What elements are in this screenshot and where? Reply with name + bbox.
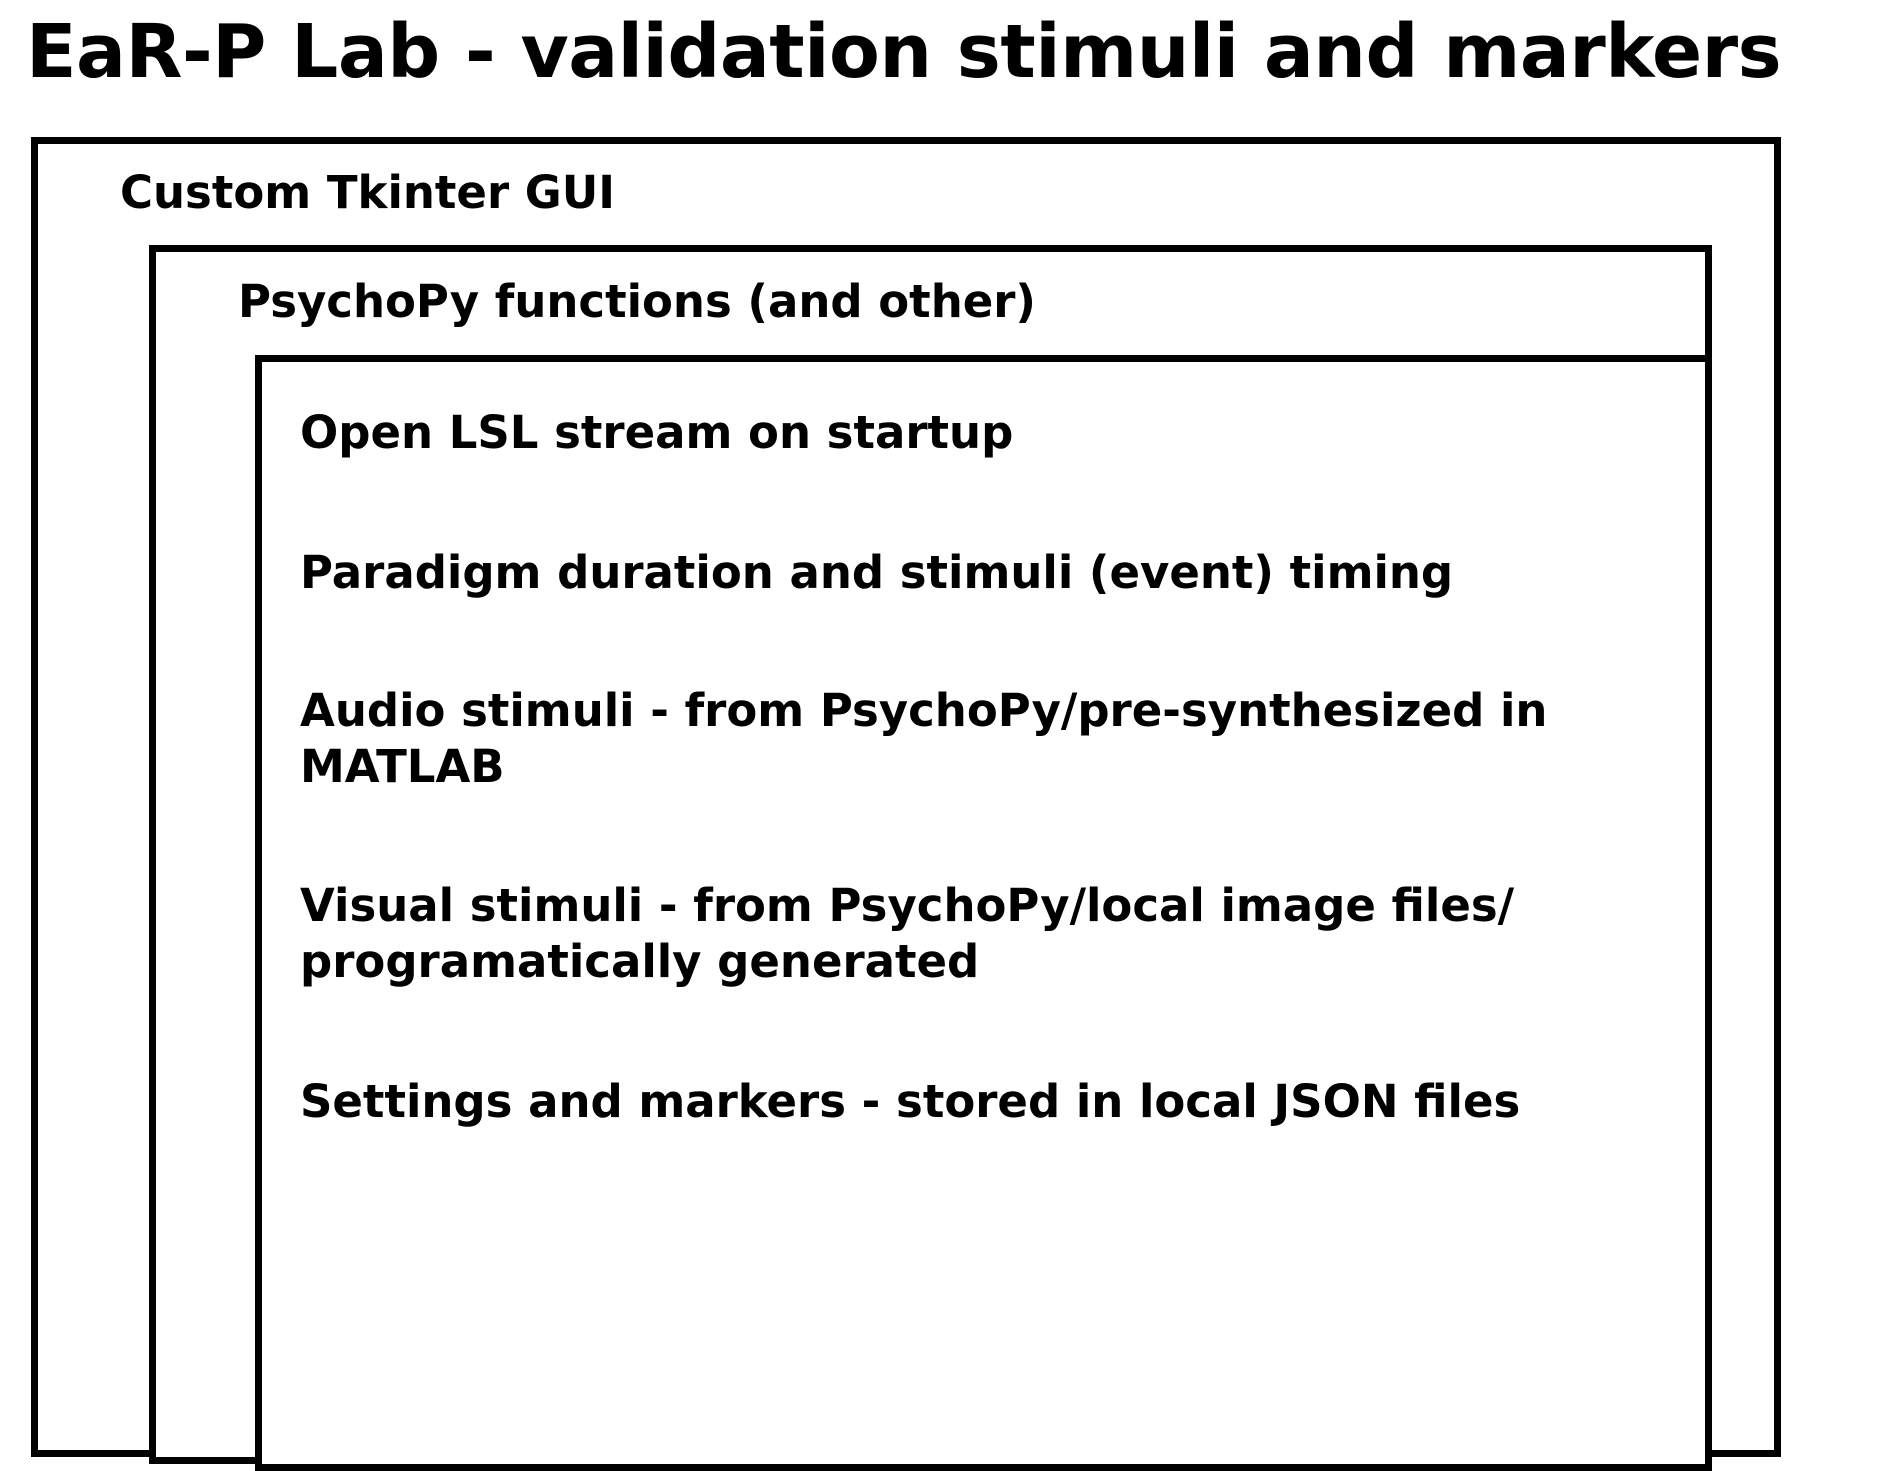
feature-list: Open LSL stream on startup Paradigm dura… bbox=[300, 380, 1680, 1130]
layer-box-inner-features: Open LSL stream on startup Paradigm dura… bbox=[255, 355, 1712, 1471]
layer-box-custom-tkinter-gui: Custom Tkinter GUI PsychoPy functions (a… bbox=[31, 137, 1781, 1457]
list-item: Visual stimuli - from PsychoPy/local ima… bbox=[300, 878, 1680, 990]
layer-box-psychopy-functions: PsychoPy functions (and other) Open LSL … bbox=[149, 245, 1712, 1464]
diagram-root: EaR-P Lab - validation stimuli and marke… bbox=[0, 0, 1879, 1402]
list-item: Open LSL stream on startup bbox=[300, 405, 1680, 461]
list-item: Audio stimuli - from PsychoPy/pre-synthe… bbox=[300, 683, 1680, 795]
layer-label-psychopy-functions: PsychoPy functions (and other) bbox=[238, 274, 1036, 329]
page-title: EaR-P Lab - validation stimuli and marke… bbox=[26, 8, 1866, 96]
list-item: Paradigm duration and stimuli (event) ti… bbox=[300, 545, 1680, 601]
list-item: Settings and markers - stored in local J… bbox=[300, 1074, 1680, 1130]
layer-label-custom-tkinter-gui: Custom Tkinter GUI bbox=[120, 165, 615, 220]
